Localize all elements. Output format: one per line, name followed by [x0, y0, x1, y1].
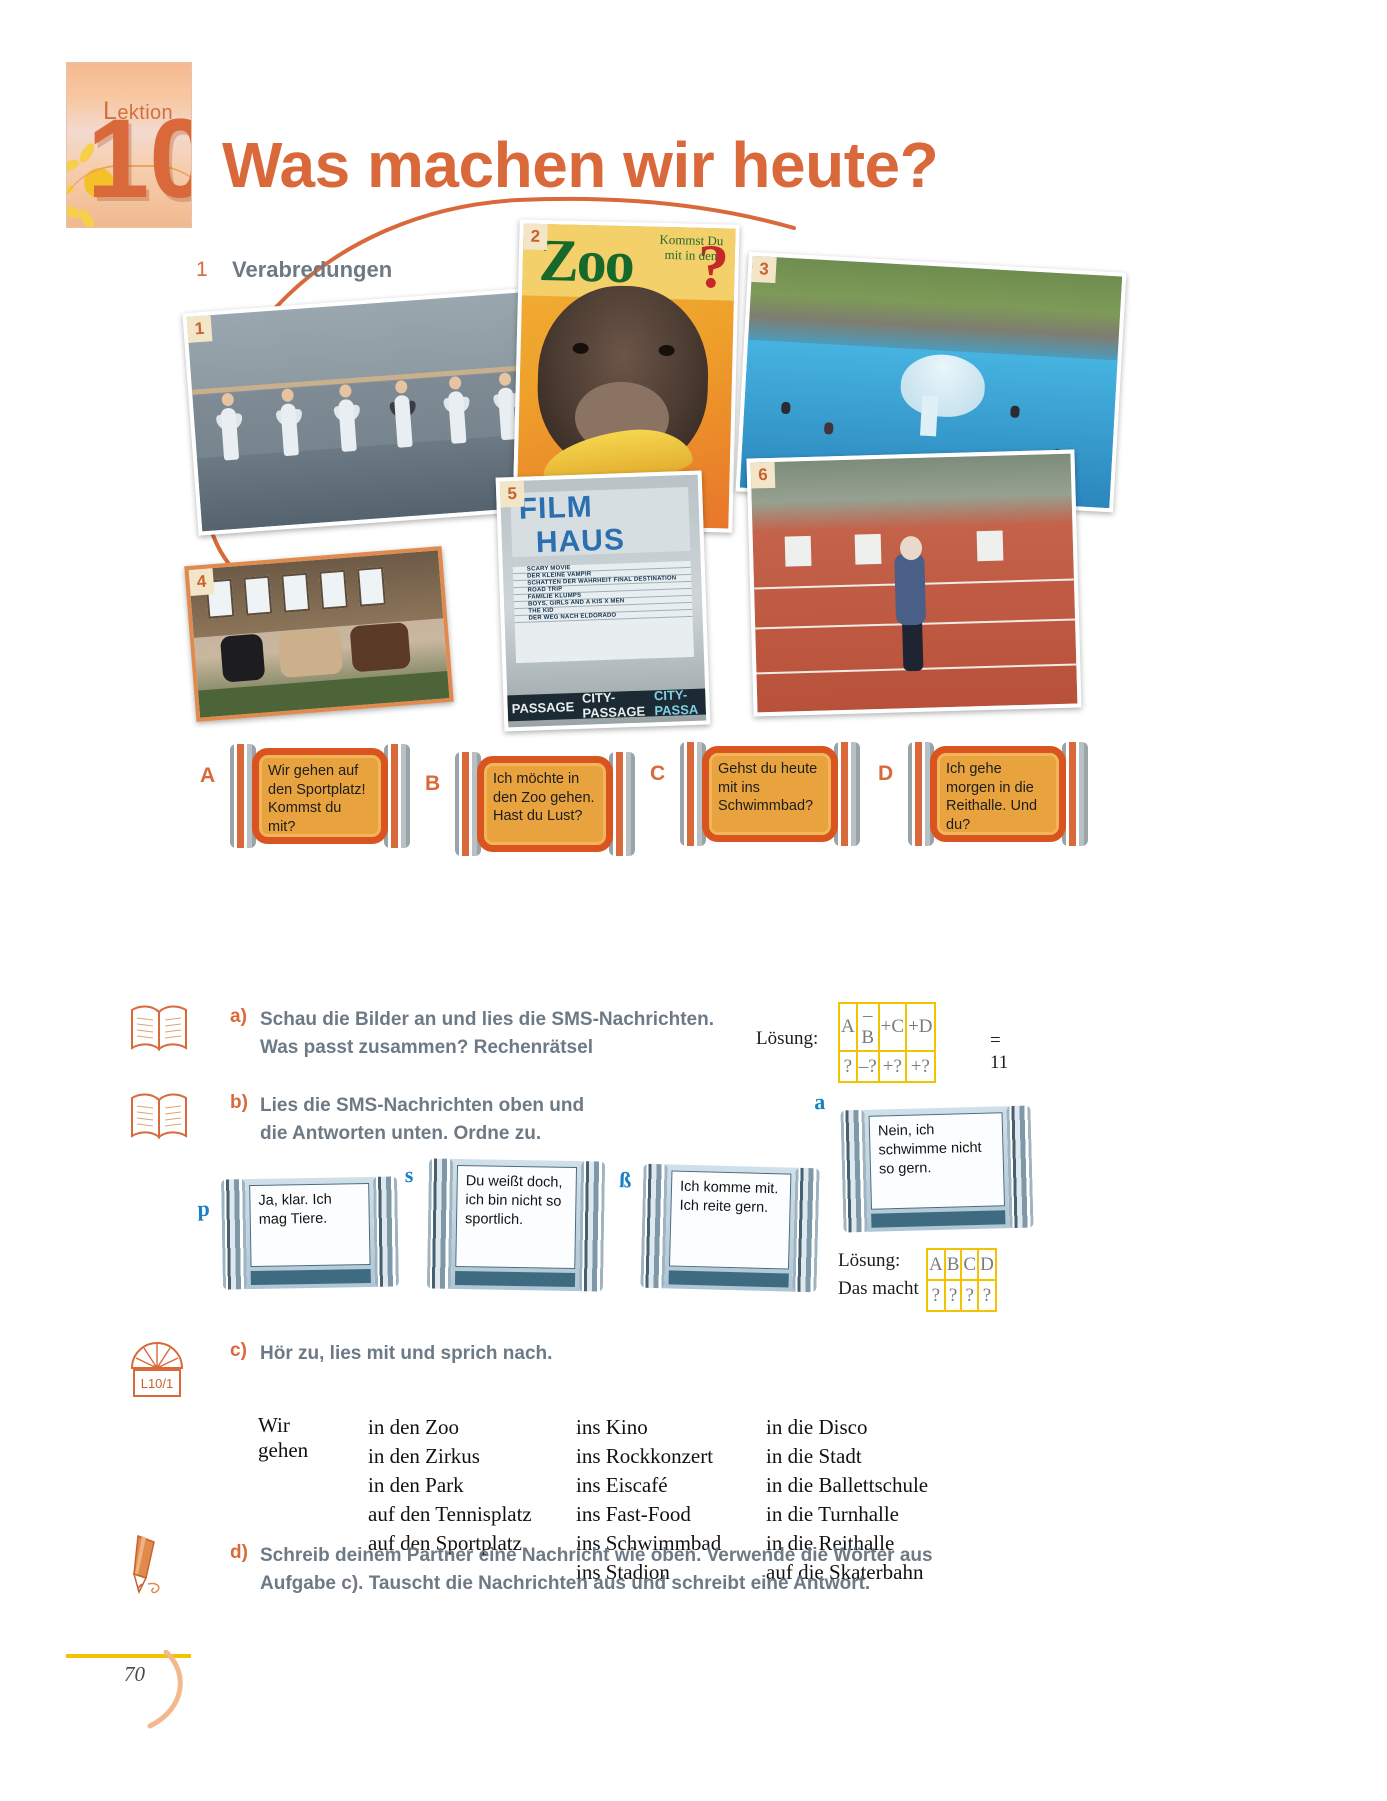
word-item: ins Fast-Food	[576, 1500, 721, 1529]
sms-text: Ich gehe morgen in die Reithalle. Und du…	[930, 746, 1066, 842]
word-item: ins Rockkonzert	[576, 1442, 721, 1471]
word-item: in die Disco	[766, 1413, 928, 1442]
lektion-badge: Lektion 10	[66, 62, 192, 228]
solution-b-value-cell[interactable]: ?	[978, 1280, 996, 1311]
solution-b-caption-2: Das macht	[838, 1278, 919, 1300]
answer-text: Ich komme mit. Ich reite gern.	[669, 1170, 791, 1269]
word-item: ins Eiscafé	[576, 1471, 721, 1500]
passage-sign: PASSAGE CITY-PASSAGE CITY-PASSA	[507, 688, 706, 721]
task-b-text: Lies die SMS-Nachrichten oben und die An…	[260, 1092, 880, 1147]
sms-message-a: A Wir gehen auf den Sportplatz! Kommst d…	[230, 744, 410, 848]
photo-number: 2	[523, 223, 548, 250]
solution-a-header-cell: –B	[857, 1003, 879, 1051]
sms-label: C	[650, 762, 665, 786]
solution-b-caption-1: Lösung:	[838, 1250, 900, 1272]
word-item: ins Kino	[576, 1413, 721, 1442]
solution-a-value-cell[interactable]: –?	[857, 1051, 879, 1082]
answer-text: Ja, klar. Ich mag Tiere.	[249, 1183, 370, 1267]
sms-label: D	[878, 762, 893, 786]
sms-message-d: D Ich gehe morgen in die Reithalle. Und …	[908, 742, 1088, 846]
solution-a-value-cell[interactable]: +?	[879, 1051, 906, 1082]
word-table-column-1: in den Zoo in den Zirkus in den Park auf…	[368, 1413, 532, 1558]
film-sign-line2: HAUS	[511, 521, 690, 561]
photo-cinema-filmhaus: FILM HAUS SCARY MOVIE DER KLEINE VAMPIR …	[496, 470, 711, 731]
sms-label: B	[425, 772, 440, 796]
answer-message-p: p Ja, klar. Ich mag Tiere.	[221, 1176, 399, 1289]
answer-label: p	[197, 1196, 210, 1222]
solution-a-result: = 11	[990, 1030, 1008, 1074]
sms-message-c: C Gehst du heute mit ins Schwimmbad?	[680, 742, 860, 846]
word-item: in den Zoo	[368, 1413, 532, 1442]
task-d-text: Schreib deinem Partner eine Nachricht wi…	[260, 1542, 1190, 1597]
pencil-icon	[128, 1534, 176, 1596]
task-c-text: Hör zu, lies mit und sprich nach.	[260, 1340, 880, 1368]
photo-number: 5	[500, 481, 525, 508]
solution-b-header-cell: C	[961, 1249, 978, 1280]
photo-number: 6	[751, 462, 776, 489]
svg-text:L10/1: L10/1	[141, 1376, 174, 1391]
answer-text: Nein, ich schwimme nicht so gern.	[869, 1112, 1005, 1209]
sms-text: Ich möchte in den Zoo gehen. Hast du Lus…	[477, 756, 613, 852]
zoo-caption: Kommst Du mit in den	[659, 233, 724, 264]
solution-b-value-cell[interactable]: ?	[927, 1280, 945, 1311]
task-c-letter: c)	[230, 1340, 247, 1362]
footer-swoosh	[120, 1650, 210, 1740]
audio-cd-icon: L10/1	[126, 1330, 188, 1400]
answer-label: a	[814, 1089, 826, 1115]
task-d-letter: d)	[230, 1542, 248, 1564]
solution-a-header-cell: +C	[879, 1003, 906, 1051]
answer-text: Du weißt doch, ich bin nicht so sportlic…	[455, 1165, 577, 1269]
task-a-letter: a)	[230, 1006, 247, 1028]
solution-a-value-cell[interactable]: ?	[839, 1051, 857, 1082]
solution-b-header-cell: A	[927, 1249, 945, 1280]
solution-b-value-cell[interactable]: ?	[961, 1280, 978, 1311]
solution-a-value-cell[interactable]: +?	[906, 1051, 934, 1082]
exercise-1-title: Verabredungen	[232, 257, 392, 283]
photo-number: 4	[189, 568, 215, 596]
word-item: in den Park	[368, 1471, 532, 1500]
word-item: auf den Tennisplatz	[368, 1500, 532, 1529]
photo-runner-track: 6	[746, 449, 1081, 716]
word-item: in die Stadt	[766, 1442, 928, 1471]
movie-listings: SCARY MOVIE DER KLEINE VAMPIR SCHATTEN D…	[513, 561, 694, 663]
solution-b-header-cell: B	[945, 1249, 962, 1280]
sms-message-b: B Ich möchte in den Zoo gehen. Hast du L…	[455, 752, 635, 856]
solution-b-header-cell: D	[978, 1249, 996, 1280]
answer-message-ss: ß Ich komme mit. Ich reite gern.	[640, 1164, 819, 1293]
photo-number: 1	[187, 315, 213, 343]
word-item: in den Zirkus	[368, 1442, 532, 1471]
exercise-1-number: 1	[196, 258, 208, 282]
solution-a-caption: Lösung:	[756, 1028, 818, 1050]
book-icon	[128, 1090, 190, 1142]
solution-a-header-cell: +D	[906, 1003, 934, 1051]
photo-horse-riding: 4	[184, 546, 453, 722]
textbook-page: Lektion 10 Was machen wir heute? 1 Verab…	[0, 0, 1387, 1801]
answer-label: s	[405, 1162, 414, 1188]
answer-label: ß	[619, 1167, 632, 1193]
word-item: in die Turnhalle	[766, 1500, 928, 1529]
book-icon	[128, 1002, 190, 1054]
photo-number: 3	[751, 256, 776, 283]
task-b-letter: b)	[230, 1092, 248, 1114]
sms-text: Wir gehen auf den Sportplatz! Kommst du …	[252, 748, 388, 844]
word-item: in die Ballettschule	[766, 1471, 928, 1500]
solution-b-value-cell[interactable]: ?	[945, 1280, 962, 1311]
solution-a-header-cell: A	[839, 1003, 857, 1051]
sms-text: Gehst du heute mit ins Schwimmbad?	[702, 746, 838, 842]
lektion-number: 10	[87, 103, 192, 215]
word-table-lead: Wir gehen	[258, 1413, 308, 1463]
answer-message-a: a Nein, ich schwimme nicht so gern.	[840, 1106, 1033, 1233]
answer-message-s: s Du weißt doch, ich bin nicht so sportl…	[427, 1158, 605, 1291]
page-title: Was machen wir heute?	[222, 128, 938, 202]
sms-label: A	[200, 764, 215, 788]
